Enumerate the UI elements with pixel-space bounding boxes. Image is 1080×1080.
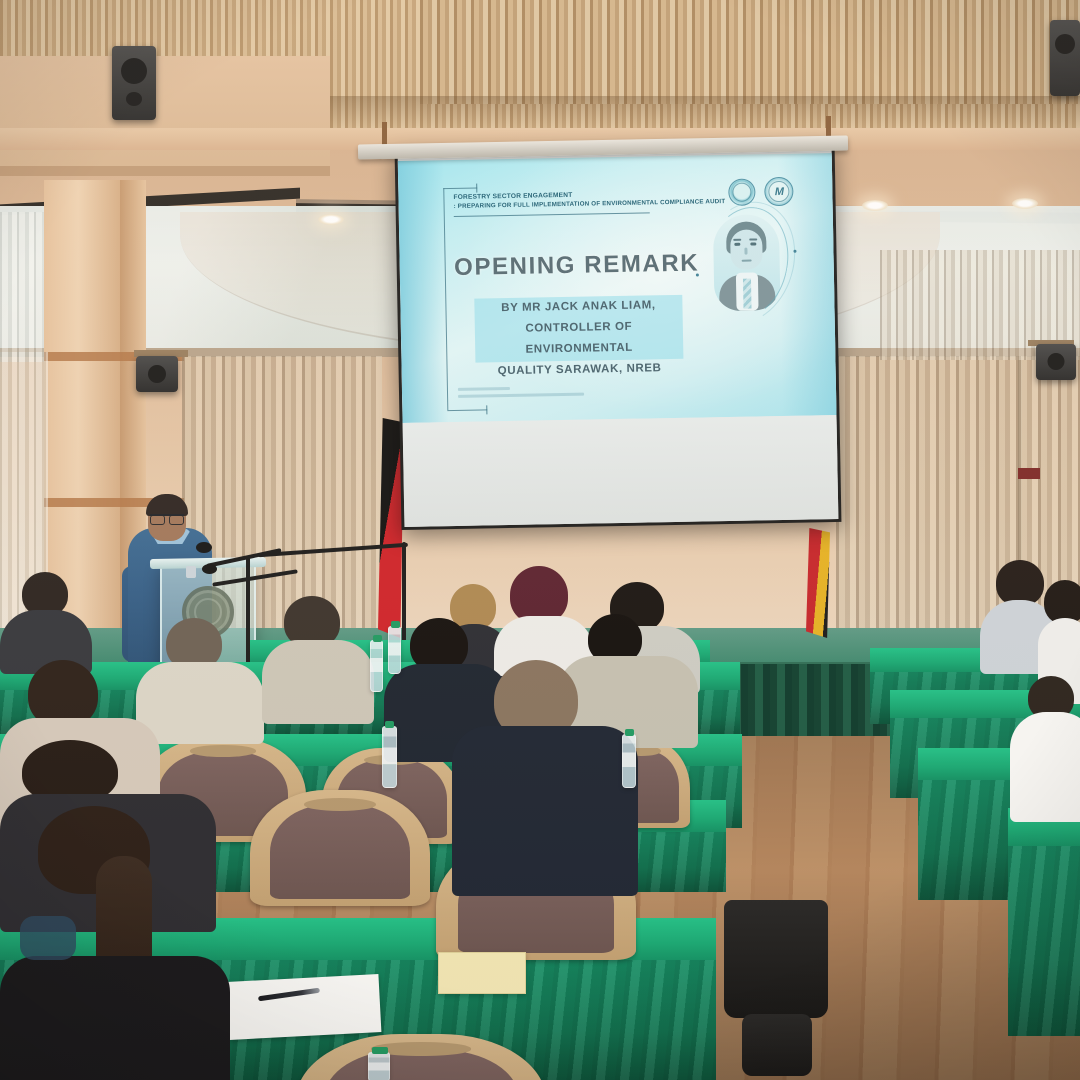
left-soffit: [0, 56, 330, 174]
portrait-decor-dot: [793, 250, 796, 253]
water-bottle: [382, 726, 397, 788]
microphone-icon: [202, 564, 217, 574]
slide-header-rule: [454, 212, 650, 217]
collar: [20, 916, 76, 960]
slide-accent-line: [447, 409, 487, 411]
audience-member: [452, 660, 622, 880]
notepad: [438, 952, 526, 994]
slide-header: FORESTRY SECTOR ENGAGEMENT : PREPARING F…: [453, 188, 735, 211]
wall-speaker-icon: [136, 356, 178, 392]
sheer-curtain-left-upper: [0, 212, 44, 362]
screen-hanger: [382, 122, 387, 146]
projection-screen: FORESTRY SECTOR ENGAGEMENT : PREPARING F…: [395, 142, 842, 530]
audience-member-foreground: [0, 806, 250, 1080]
slide-footer-text: [458, 386, 584, 403]
banquet-chair[interactable]: [296, 1034, 546, 1080]
slide-subtitle-line: CONTROLLER OF ENVIRONMENTAL: [475, 316, 684, 362]
left-soffit-edge: [0, 166, 330, 176]
slide-subtitle-line: QUALITY SARAWAK, NREB: [475, 358, 683, 383]
banquet-chair[interactable]: [250, 790, 430, 906]
slide-accent-line: [443, 188, 477, 190]
downlight-icon: [318, 214, 344, 225]
wall-speaker-icon: [1050, 20, 1080, 96]
flag-right-stage: [806, 528, 830, 638]
sarawak-agency-logo-icon: M: [764, 177, 794, 207]
presenter-badge: [186, 566, 196, 578]
wall-plaque: [1018, 468, 1040, 479]
slide-subtitle-line: BY MR JACK ANAK LIAM,: [474, 295, 682, 320]
downlight-icon: [1012, 198, 1038, 209]
water-bottle: [370, 640, 383, 692]
presentation-slide: FORESTRY SECTOR ENGAGEMENT : PREPARING F…: [398, 153, 839, 423]
audience-member: [0, 572, 86, 668]
table-skirt: [1008, 846, 1080, 1036]
slide-tick-mark: [476, 184, 477, 193]
ceiling-wood-slats-upper: [420, 0, 1080, 104]
water-bottle: [368, 1052, 390, 1080]
audience-member: [262, 596, 366, 706]
portrait-decor-dot: [696, 274, 699, 277]
slide-title: OPENING REMARK: [451, 249, 701, 282]
conference-hall-photo: FORESTRY SECTOR ENGAGEMENT : PREPARING F…: [0, 0, 1080, 1080]
microphone-icon: [196, 542, 212, 553]
logo-glyph: M: [765, 178, 792, 205]
backpack: [724, 900, 828, 1018]
water-bottle: [622, 734, 636, 788]
eyeglasses-icon: [150, 514, 184, 521]
slide-tick-mark: [486, 405, 487, 414]
slide-subtitle-box: BY MR JACK ANAK LIAM, CONTROLLER OF ENVI…: [474, 295, 683, 363]
water-bottle: [388, 626, 401, 674]
wall-speaker-icon: [112, 46, 156, 120]
wall-speaker-icon: [1036, 344, 1076, 380]
shoe: [742, 1014, 812, 1076]
screen-blank-area: [403, 415, 839, 527]
downlight-icon: [862, 200, 888, 211]
audience-member: [1010, 676, 1080, 816]
audience-member: [136, 618, 256, 728]
